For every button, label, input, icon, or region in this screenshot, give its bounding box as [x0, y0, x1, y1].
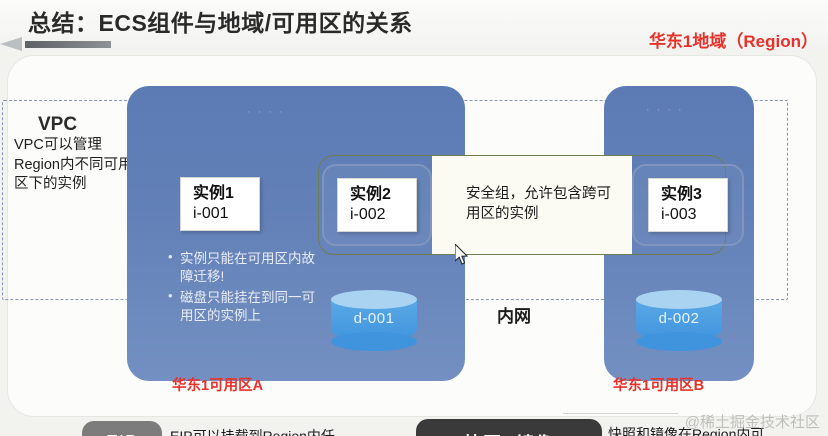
instance-1-id: i-001 [193, 204, 249, 224]
region-label: 华东1地域（Region） [649, 27, 818, 52]
watermark-line [563, 413, 678, 414]
title-accent-triangle [0, 37, 22, 51]
mouse-cursor-icon [455, 244, 471, 266]
instance-3-name: 实例3 [661, 185, 717, 205]
instance-2-name: 实例2 [350, 185, 406, 205]
zone-a-notes: 实例只能在可用区内故障迁移! 磁盘只能挂在到同一可用区的实例上 [168, 250, 318, 328]
eip-description: EIP可以挂载到Region内任意VPC实例上 [170, 427, 340, 436]
security-group-label: 安全组，允许包含跨可用区的实例 [466, 185, 616, 224]
disk-d-001[interactable]: d-001 [331, 290, 417, 352]
disk-bottom-ellipse [636, 332, 722, 351]
zone-b-dots: ···· [646, 104, 689, 116]
slide-screenshot: 总结：ECS组件与地域/可用区的关系 华东1地域（Region） VPC VPC… [0, 0, 828, 436]
page-title: 总结：ECS组件与地域/可用区的关系 [28, 4, 413, 38]
disk-d-002[interactable]: d-002 [636, 290, 722, 352]
vpc-title: VPC [38, 114, 77, 136]
instance-card-3[interactable]: 实例3 i-003 [648, 178, 728, 232]
instance-2-id: i-002 [350, 205, 406, 225]
snapshot-image-chip[interactable]: 快照&镜像 [416, 419, 602, 436]
zone-a-note-2: 磁盘只能挂在到同一可用区的实例上 [168, 289, 318, 324]
zone-a-dots: ···· [247, 106, 290, 118]
disk-1-label: d-001 [331, 310, 417, 327]
title-accent-bar [25, 41, 111, 48]
disk-top-ellipse [636, 290, 722, 309]
disk-top-ellipse [331, 290, 417, 309]
watermark: @稀土掘金技术社区 [685, 411, 820, 432]
instance-3-id: i-003 [661, 205, 717, 225]
instance-card-2[interactable]: 实例2 i-002 [337, 178, 417, 232]
intranet-label: 内网 [497, 302, 531, 327]
zone-a-note-1: 实例只能在可用区内故障迁移! [168, 250, 318, 285]
title-bar: 总结：ECS组件与地域/可用区的关系 华东1地域（Region） [0, 0, 828, 52]
instance-1-name: 实例1 [193, 184, 249, 204]
zone-b-name: 华东1可用区B [613, 374, 704, 395]
slide-body: VPC VPC可以管理Region内不同可用区下的实例 ···· ···· 安全… [0, 52, 828, 436]
vpc-description: VPC可以管理Region内不同可用区下的实例 [14, 136, 144, 195]
zone-a-name: 华东1可用区A [172, 374, 263, 395]
eip-chip[interactable]: EIP [82, 421, 162, 436]
disk-bottom-ellipse [331, 332, 417, 351]
instance-card-1[interactable]: 实例1 i-001 [180, 177, 260, 231]
disk-2-label: d-002 [636, 310, 722, 327]
